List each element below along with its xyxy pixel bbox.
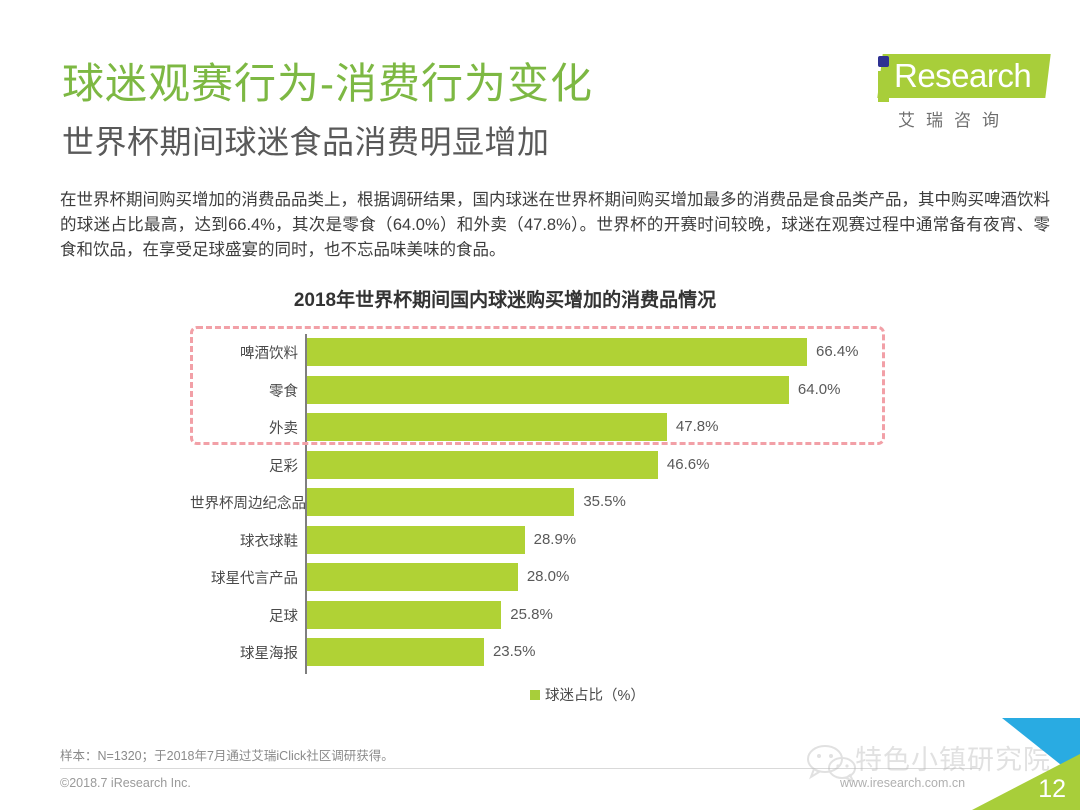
bar — [307, 338, 807, 366]
iresearch-logo: Research 艾瑞咨询 — [858, 44, 1048, 136]
bar-value-label: 28.0% — [527, 568, 570, 585]
bar-category-label: 球星代言产品 — [190, 567, 298, 588]
bar-chart: 啤酒饮料66.4%零食64.0%外卖47.8%足彩46.6%世界杯周边纪念品35… — [190, 326, 890, 716]
bar-row: 球星海报23.5% — [190, 638, 890, 666]
bar-value-label: 28.9% — [534, 531, 577, 548]
bar — [307, 563, 518, 591]
bar-value-label: 23.5% — [493, 643, 536, 660]
bar-row: 足彩46.6% — [190, 451, 890, 479]
bar — [307, 526, 525, 554]
bar-category-label: 啤酒饮料 — [190, 342, 298, 363]
bar-category-label: 球衣球鞋 — [190, 530, 298, 551]
legend-swatch-icon — [530, 690, 540, 700]
bar-row: 世界杯周边纪念品35.5% — [190, 488, 890, 516]
page-title: 球迷观赛行为-消费行为变化 — [62, 58, 593, 110]
bar — [307, 451, 658, 479]
bar-category-label: 世界杯周边纪念品 — [190, 492, 298, 513]
bar-value-label: 35.5% — [583, 493, 626, 510]
bar-value-label: 47.8% — [676, 418, 719, 435]
bar-row: 啤酒饮料66.4% — [190, 338, 890, 366]
chart-legend: 球迷占比（%） — [530, 684, 645, 705]
bar-row: 外卖47.8% — [190, 413, 890, 441]
bar-category-label: 外卖 — [190, 417, 298, 438]
bar-category-label: 足彩 — [190, 455, 298, 476]
page-subtitle: 世界杯期间球迷食品消费明显增加 — [62, 122, 550, 162]
bar — [307, 376, 789, 404]
legend-label: 球迷占比（%） — [545, 688, 645, 704]
logo-i-dot-icon — [878, 56, 889, 67]
bar — [307, 413, 667, 441]
bar — [307, 638, 484, 666]
bar — [307, 601, 501, 629]
bar-value-label: 25.8% — [510, 606, 553, 623]
bar-row: 球衣球鞋28.9% — [190, 526, 890, 554]
bar-value-label: 46.6% — [667, 456, 710, 473]
bar-row: 足球25.8% — [190, 601, 890, 629]
bar-category-label: 足球 — [190, 605, 298, 626]
bar — [307, 488, 574, 516]
copyright-text: ©2018.7 iResearch Inc. — [60, 776, 191, 790]
y-axis-line — [305, 334, 307, 674]
logo-chinese-name: 艾瑞咨询 — [898, 106, 1010, 131]
chart-title: 2018年世界杯期间国内球迷购买增加的消费品情况 — [0, 285, 1010, 312]
logo-wordmark: Research — [894, 57, 1031, 95]
source-note: 样本：N=1320；于2018年7月通过艾瑞iClick社区调研获得。 — [60, 745, 394, 764]
bar-value-label: 66.4% — [816, 343, 859, 360]
page-number: 12 — [1038, 775, 1066, 804]
bar-row: 零食64.0% — [190, 376, 890, 404]
logo-i-stem-icon — [878, 71, 889, 102]
bar-category-label: 球星海报 — [190, 642, 298, 663]
site-url: www.iresearch.com.cn — [840, 776, 965, 790]
bar-value-label: 64.0% — [798, 381, 841, 398]
bar-category-label: 零食 — [190, 380, 298, 401]
body-paragraph: 在世界杯期间购买增加的消费品品类上，根据调研结果，国内球迷在世界杯期间购买增加最… — [60, 188, 1050, 263]
bar-row: 球星代言产品28.0% — [190, 563, 890, 591]
footer-divider — [60, 768, 980, 769]
